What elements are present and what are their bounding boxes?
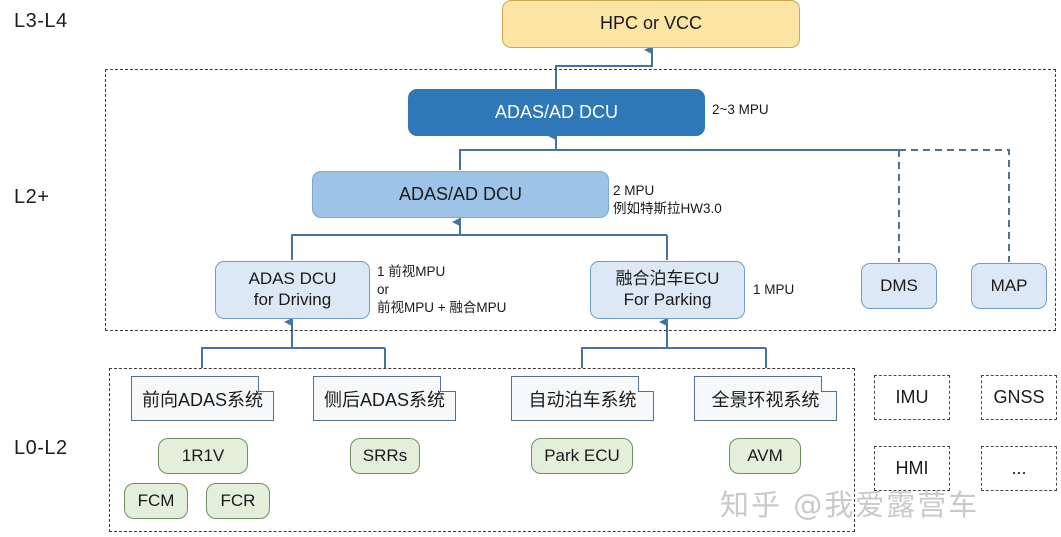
sensor-fcm[interactable]: FCM (124, 483, 188, 519)
sensor-park-ecu[interactable]: Park ECU (531, 438, 633, 474)
annotation-dcu-mid-mpu: 2 MPU 例如特斯拉HW3.0 (613, 182, 722, 218)
system-box-auto-parking[interactable]: 自动泊车系统 (511, 376, 654, 421)
node-hpc-or-vcc[interactable]: HPC or VCC (502, 0, 800, 48)
system-label: 侧后ADAS系统 (324, 386, 445, 412)
wire-parking-sys-to-bus (582, 348, 766, 368)
tier-label-l2-plus: L2+ (14, 186, 49, 209)
tier-label-l0-l2: L0-L2 (14, 437, 68, 460)
watermark-text: 知乎 @我爱露营车 (720, 482, 979, 524)
annotation-dcu-top-mpu: 2~3 MPU (712, 101, 769, 119)
annotation-driving-mpu: 1 前视MPU or 前视MPU + 融合MPU (377, 263, 506, 318)
node-map[interactable]: MAP (971, 263, 1047, 309)
system-label: 前向ADAS系统 (142, 386, 263, 412)
sensor-fcr[interactable]: FCR (206, 483, 270, 519)
sensor-avm[interactable]: AVM (729, 438, 801, 474)
sensor-1r1v[interactable]: 1R1V (158, 438, 248, 474)
sensor-srrs[interactable]: SRRs (350, 438, 420, 474)
node-adas-ad-dcu-top[interactable]: ADAS/AD DCU (408, 89, 705, 136)
tier-label-l3-l4: L3-L4 (14, 10, 68, 33)
node-dms[interactable]: DMS (861, 263, 937, 309)
node-adas-ad-dcu-mid[interactable]: ADAS/AD DCU (312, 171, 609, 218)
system-label: 自动泊车系统 (529, 386, 637, 412)
system-label: 全景环视系统 (712, 386, 820, 412)
fold-edge-icon (821, 376, 837, 392)
fold-edge-icon (638, 376, 654, 392)
aux-module-more[interactable]: ... (981, 446, 1057, 491)
fold-edge-icon (258, 376, 274, 392)
system-box-surround-view[interactable]: 全景环视系统 (694, 376, 837, 421)
system-box-side-rear-adas[interactable]: 侧后ADAS系统 (313, 376, 456, 421)
diagram-canvas: L3-L4 L2+ L0-L2 HPC or VCC ADAS/AD DCU 2… (0, 0, 1061, 537)
fold-edge-icon (440, 376, 456, 392)
wire-front-adas-to-bus (202, 348, 385, 368)
node-adas-dcu-for-driving[interactable]: ADAS DCU for Driving (215, 261, 370, 319)
aux-module-gnss[interactable]: GNSS (981, 375, 1057, 420)
node-fusion-parking-ecu[interactable]: 融合泊车ECU For Parking (590, 261, 745, 319)
aux-module-imu[interactable]: IMU (874, 375, 950, 420)
annotation-parking-mpu: 1 MPU (753, 281, 794, 299)
system-box-front-adas[interactable]: 前向ADAS系统 (131, 376, 274, 421)
